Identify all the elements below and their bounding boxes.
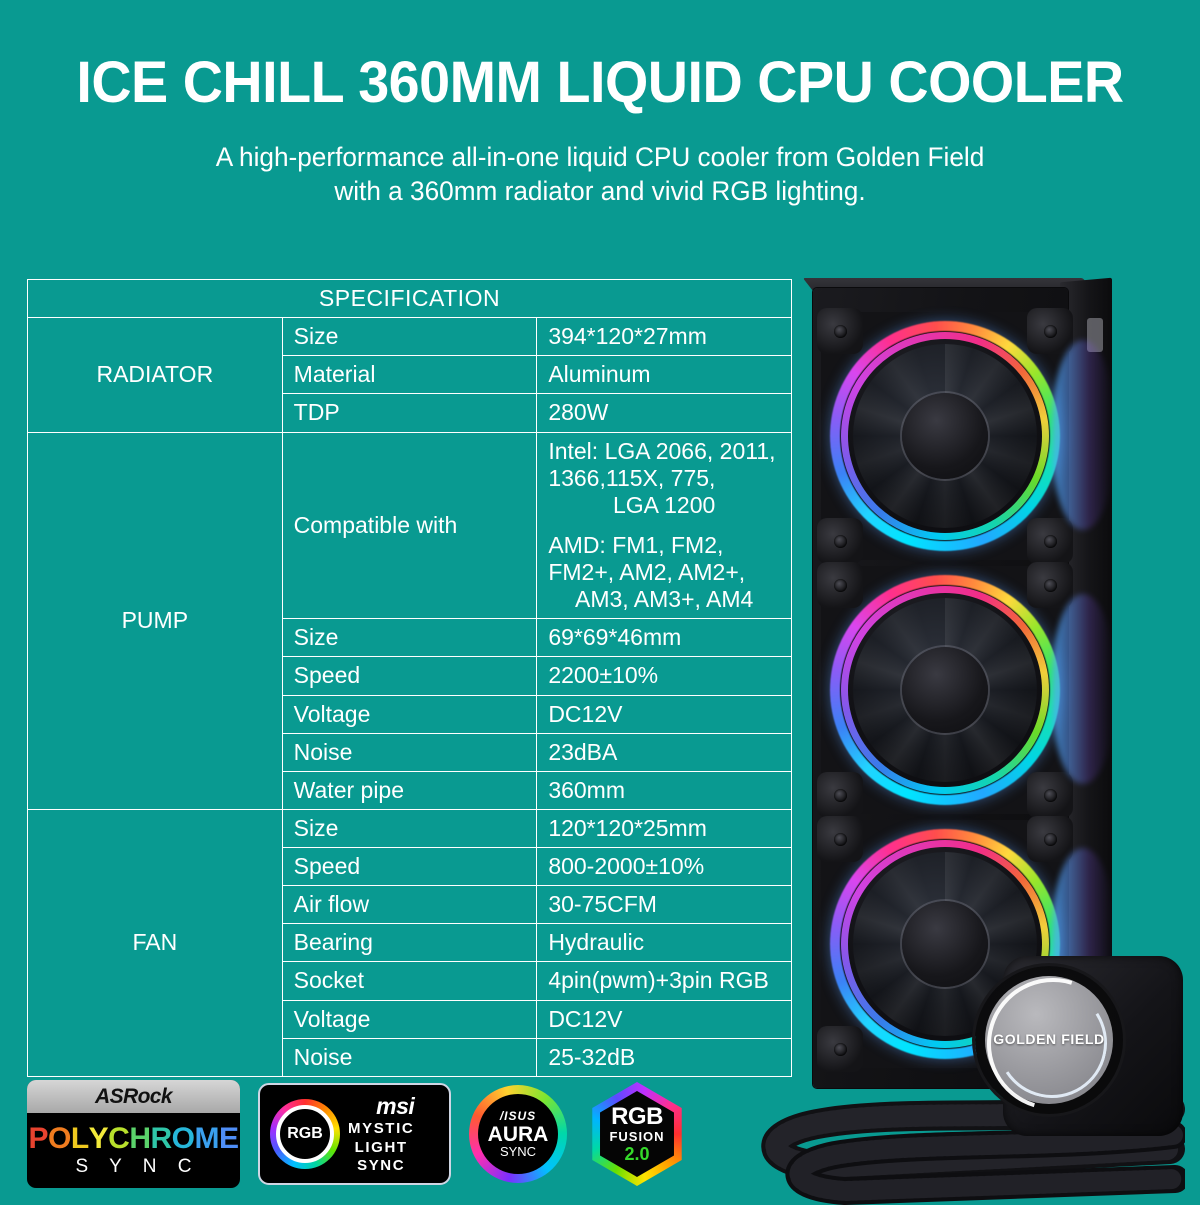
fan-screw-corner [817,562,863,608]
row-label: Size [282,809,537,847]
rgb-side-glow [1053,340,1113,530]
fan-hub [902,393,988,479]
row-label: Size [282,318,537,356]
polychrome-letter: H [129,1124,150,1154]
fusion-rgb-label: RGB [611,1105,663,1129]
logo-rgb-fusion: RGB FUSION 2.0 [585,1082,689,1186]
polychrome-letter: M [195,1124,220,1154]
fan-screw-corner [1027,562,1073,608]
page-title: ICE CHILL 360MM LIQUID CPU COOLER [24,54,1176,112]
fan-screw-corner [1027,816,1073,862]
logo-asrock-polychrome-sync: ASRock POLYCHROME S Y N C [27,1080,240,1188]
polychrome-letter: O [172,1124,195,1154]
row-label: TDP [282,394,537,432]
polychrome-letter: E [219,1124,239,1154]
fan-screw-corner [1027,308,1073,354]
fusion-inner-hex: RGB FUSION 2.0 [594,1091,680,1177]
logo-asus-aura-sync: /ISUS AURA SYNC [469,1085,567,1183]
specification-table: SPECIFICATION RADIATOR Size 394*120*27mm… [27,279,792,1077]
row-label: Compatible with [282,432,537,619]
rgb-color-wheel-icon: RGB [270,1099,340,1169]
table-row: FAN Size 120*120*25mm [28,809,792,847]
asus-inner-disc: /ISUS AURA SYNC [478,1094,558,1174]
msi-light-label: LIGHT [348,1140,414,1155]
rgb-fan-top [821,312,1069,560]
msi-brand-label: msi [348,1095,414,1118]
msi-sync-label: SYNC [348,1158,414,1173]
polychrome-wordmark: POLYCHROME [28,1124,238,1154]
group-label-pump: PUMP [28,432,283,809]
row-label: Water pipe [282,771,537,809]
row-label: Voltage [282,695,537,733]
subtitle-line-1: A high-performance all-in-one liquid CPU… [18,140,1182,174]
fan-screw-corner [817,772,863,818]
fan-screw-corner [1027,772,1073,818]
table-row: RADIATOR Size 394*120*27mm [28,318,792,356]
table-header-row: SPECIFICATION [28,280,792,318]
polychrome-letter: O [48,1124,71,1154]
pump-cap: GOLDEN FIELD [975,966,1123,1114]
row-label: Air flow [282,886,537,924]
row-label: Bearing [282,924,537,962]
group-label-fan: FAN [28,809,283,1076]
fan-screw-corner [817,518,863,564]
rgb-fan-middle [821,566,1069,814]
row-label: Size [282,619,537,657]
rgb-wheel-label: RGB [276,1105,334,1163]
pump-block: GOLDEN FIELD [975,950,1190,1150]
specification-heading: SPECIFICATION [28,280,792,318]
row-label: Noise [282,1038,537,1076]
row-label: Speed [282,657,537,695]
pump-brand-logo: GOLDEN FIELD [975,1031,1123,1047]
logo-msi-mystic-light-sync: RGB msi MYSTIC LIGHT SYNC [258,1083,451,1185]
msi-mystic-label: MYSTIC [348,1121,414,1136]
asus-aura-label: AURA [488,1124,549,1145]
fan-hub [902,647,988,733]
row-label: Speed [282,848,537,886]
asrock-brand-label: ASRock [95,1085,172,1109]
subtitle-line-2: with a 360mm radiator and vivid RGB ligh… [18,174,1182,208]
polychrome-letter: P [28,1124,48,1154]
table-row: PUMP Compatible with Intel: LGA 2066, 20… [28,432,792,619]
msi-text-block: msi MYSTIC LIGHT SYNC [348,1095,414,1173]
rgb-side-glow [1053,594,1113,784]
fusion-word-label: FUSION [609,1129,664,1145]
polychrome-letter: R [151,1124,172,1154]
fan-screw-corner [817,308,863,354]
group-label-radiator: RADIATOR [28,318,283,432]
asrock-brand-band: ASRock [27,1080,240,1113]
fan-screw-corner [1027,518,1073,564]
page-subtitle: A high-performance all-in-one liquid CPU… [18,140,1182,208]
row-label: Material [282,356,537,394]
polychrome-letter: Y [89,1124,109,1154]
asrock-polychrome-area: POLYCHROME S Y N C [27,1113,240,1188]
asus-sync-label: SYNC [500,1145,536,1159]
fan-screw-corner [817,816,863,862]
polychrome-letter: C [108,1124,129,1154]
fan-screw-corner [817,1026,863,1072]
row-label: Noise [282,733,537,771]
compatibility-logo-row: ASRock POLYCHROME S Y N C RGB msi MYSTIC… [27,1078,689,1190]
compat-amd-line-1: AMD: FM1, FM2, FM2+, AM2, AM2+, [548,532,745,585]
product-photo-liquid-cooler: GOLDEN FIELD [735,270,1200,1195]
row-label: Voltage [282,1000,537,1038]
polychrome-letter: L [71,1124,89,1154]
asrock-sync-label: S Y N C [68,1156,200,1178]
row-label: Socket [282,962,537,1000]
fusion-version-label: 2.0 [624,1145,649,1163]
asus-brand-label: /ISUS [500,1109,536,1123]
